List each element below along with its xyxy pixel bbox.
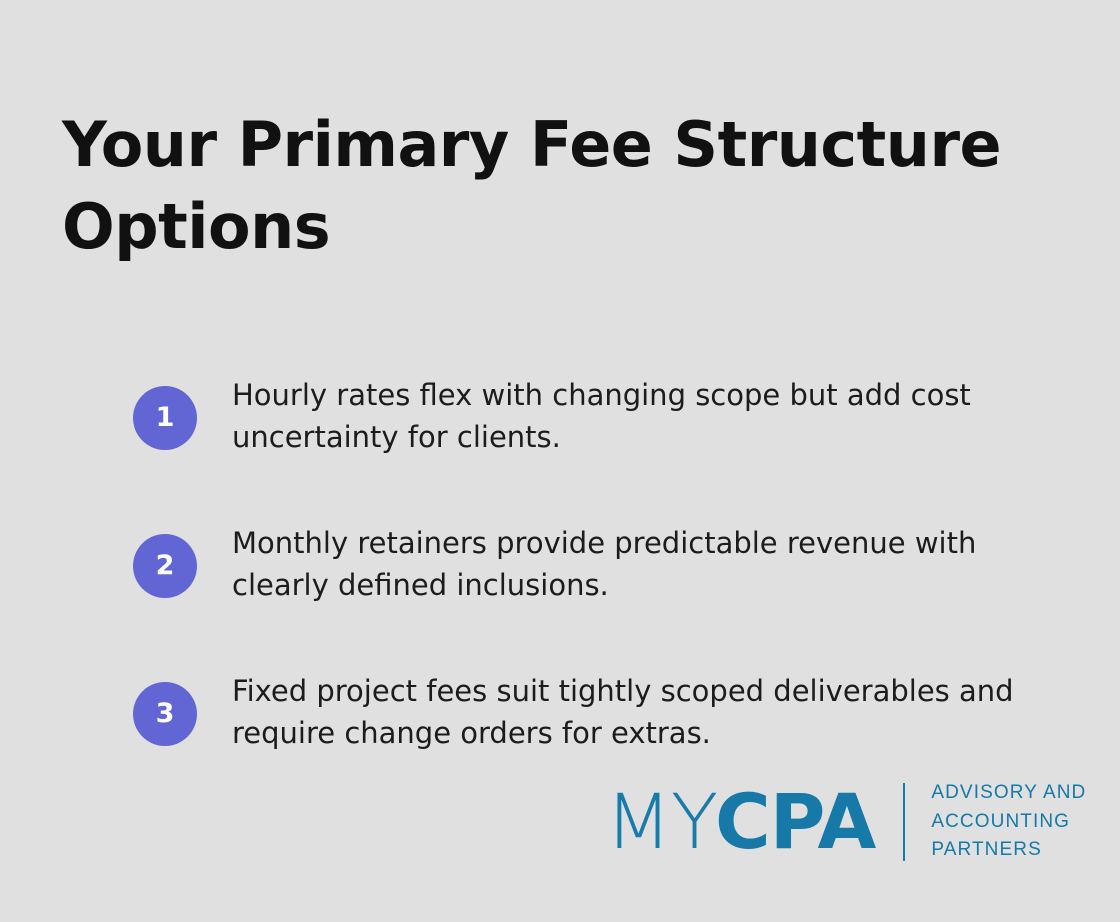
list-item: 3 Fixed project fees suit tightly scoped… [133,668,1043,754]
numbered-bullet-list: 1 Hourly rates flex with changing scope … [133,372,1043,754]
bullet-number-badge-3: 3 [133,682,197,746]
list-item: 2 Monthly retainers provide predictable … [133,520,1043,606]
bullet-text-3: Fixed project fees suit tightly scoped d… [232,668,1043,754]
logo-tagline-line-1: ADVISORY AND [931,779,1086,808]
list-item: 1 Hourly rates flex with changing scope … [133,372,1043,458]
company-logo: MYCPA ADVISORY AND ACCOUNTING PARTNERS [605,776,1086,868]
slide-canvas: Your Primary Fee Structure Options 1 Hou… [0,0,1120,922]
page-title: Your Primary Fee Structure Options [62,104,1002,268]
bullet-text-2: Monthly retainers provide predictable re… [232,520,1043,606]
logo-wordmark: MYCPA [605,784,875,860]
logo-tagline-line-2: ACCOUNTING [931,808,1086,837]
bullet-number-badge-1: 1 [133,386,197,450]
logo-tagline: ADVISORY AND ACCOUNTING PARTNERS [931,779,1086,866]
logo-divider [903,783,905,861]
bullet-text-1: Hourly rates flex with changing scope bu… [232,372,1043,458]
logo-wordmark-cpa: CPA [715,784,875,860]
logo-wordmark-my: MY [605,784,717,860]
logo-tagline-line-3: PARTNERS [931,836,1086,865]
bullet-number-badge-2: 2 [133,534,197,598]
